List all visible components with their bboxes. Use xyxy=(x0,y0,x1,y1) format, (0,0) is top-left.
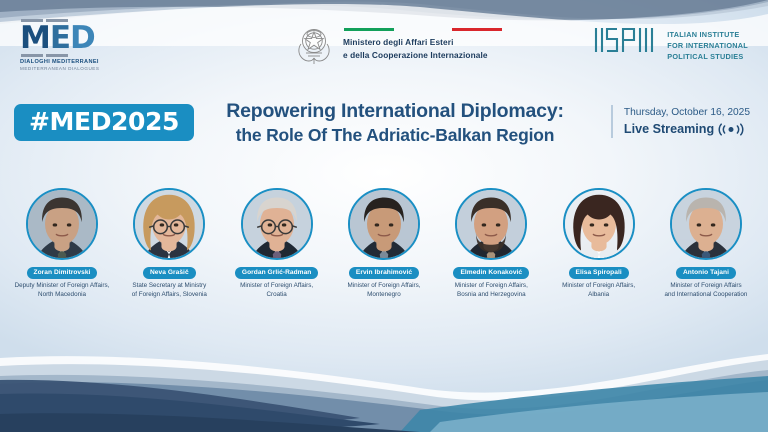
speaker-avatar xyxy=(670,188,742,260)
title-bar: #MED2025 Repowering International Diplom… xyxy=(0,96,768,152)
speaker-role-line2: Bosnia and Herzegovina xyxy=(437,291,545,300)
speaker-role: State Secretary at Ministryof Foreign Af… xyxy=(115,282,223,300)
flag-bar-green xyxy=(344,28,394,31)
ispi-tagline-line1: ITALIAN INSTITUTE xyxy=(667,29,748,40)
banner-header: MED DIALOGHI MEDITERRANEI MEDITERRANEAN … xyxy=(0,22,768,78)
event-date: Thursday, October 16, 2025 xyxy=(624,105,750,121)
live-streaming-label: Live Streaming xyxy=(624,121,714,139)
event-date-streaming: Thursday, October 16, 2025 Live Streamin… xyxy=(611,105,750,138)
ministry-logo: Ministero degli Affari Esteri e della Co… xyxy=(294,22,502,66)
ispi-tagline-line2: FOR INTERNATIONAL xyxy=(667,40,748,51)
speaker-name: Elmedin Konaković xyxy=(453,267,529,279)
speaker-role-line2: Montenegro xyxy=(330,291,438,300)
speaker-name: Elisa Spiropali xyxy=(569,267,629,279)
med-logo-subtitle-en: MEDITERRANEAN DIALOGUES xyxy=(20,66,140,71)
bottom-wave-decoration xyxy=(0,314,768,432)
speaker-list: Zoran DimitrovskiDeputy Minister of Fore… xyxy=(0,188,768,328)
speaker-name: Neva Grašič xyxy=(143,267,196,279)
ministry-name-line2: e della Cooperazione Internazionale xyxy=(343,49,502,61)
speaker-card: Ervin IbrahimovićMinister of Foreign Aff… xyxy=(332,188,436,328)
med-logo: MED DIALOGHI MEDITERRANEI MEDITERRANEAN … xyxy=(20,19,140,71)
speaker-role-line1: Minister of Foreign Affairs, xyxy=(545,282,653,291)
speaker-avatar xyxy=(455,188,527,260)
event-banner: MED DIALOGHI MEDITERRANEI MEDITERRANEAN … xyxy=(0,0,768,432)
event-hashtag-badge: #MED2025 xyxy=(14,104,194,141)
flag-bar-red xyxy=(452,28,502,31)
med-letter-d: D xyxy=(70,20,95,56)
event-title-line1: Repowering International Diplomacy: xyxy=(185,99,605,124)
speaker-card: Neva GrašičState Secretary at Ministryof… xyxy=(117,188,221,328)
ministry-name-line1: Ministero degli Affari Esteri xyxy=(343,36,502,48)
speaker-name: Gordan Grlić-Radman xyxy=(235,267,318,279)
event-title-line2: the Role Of The Adriatic-Balkan Region xyxy=(185,124,605,148)
ispi-wordmark-icon xyxy=(593,26,659,54)
speaker-avatar xyxy=(26,188,98,260)
speaker-role-line1: Minister of Foreign Affairs, xyxy=(437,282,545,291)
speaker-avatar xyxy=(563,188,635,260)
ispi-tagline-line3: POLITICAL STUDIES xyxy=(667,51,748,62)
speaker-avatar xyxy=(348,188,420,260)
speaker-role: Minister of Foreign Affairsand Internati… xyxy=(652,282,760,300)
speaker-card: Antonio TajaniMinister of Foreign Affair… xyxy=(654,188,758,328)
speaker-role-line2: Albania xyxy=(545,291,653,300)
speaker-role: Minister of Foreign Affairs,Croatia xyxy=(223,282,331,300)
speaker-name: Zoran Dimitrovski xyxy=(27,267,98,279)
italian-flag-bars xyxy=(343,28,502,31)
speaker-role-line1: Minister of Foreign Affairs, xyxy=(223,282,331,291)
live-streaming-label-row: Live Streaming xyxy=(624,121,750,139)
speaker-avatar xyxy=(241,188,313,260)
speaker-role-line1: Minister of Foreign Affairs, xyxy=(330,282,438,291)
med-logo-wordmark: MED xyxy=(20,24,140,53)
speaker-role-line2: and International Cooperation xyxy=(652,291,760,300)
speaker-name: Antonio Tajani xyxy=(676,267,736,279)
speaker-role: Deputy Minister of Foreign Affairs,North… xyxy=(8,282,116,300)
med-letter-e: E xyxy=(50,20,70,56)
med-letter-m: M xyxy=(20,20,50,56)
med-logo-subtitle-it: DIALOGHI MEDITERRANEI xyxy=(20,59,140,65)
speaker-name: Ervin Ibrahimović xyxy=(349,267,419,279)
speaker-card: Gordan Grlić-RadmanMinister of Foreign A… xyxy=(225,188,329,328)
event-title: Repowering International Diplomacy: the … xyxy=(185,99,605,148)
speaker-role-line1: State Secretary at Ministry xyxy=(115,282,223,291)
speaker-avatar xyxy=(133,188,205,260)
speaker-card: Zoran DimitrovskiDeputy Minister of Fore… xyxy=(10,188,114,328)
ispi-logo: ITALIAN INSTITUTE FOR INTERNATIONAL POLI… xyxy=(593,26,748,62)
speaker-role-line2: Croatia xyxy=(223,291,331,300)
speaker-role: Minister of Foreign Affairs,Bosnia and H… xyxy=(437,282,545,300)
speaker-role-line1: Deputy Minister of Foreign Affairs, xyxy=(8,282,116,291)
italian-republic-emblem-icon xyxy=(294,22,334,66)
speaker-role-line2: of Foreign Affairs, Slovenia xyxy=(115,291,223,300)
speaker-role-line2: North Macedonia xyxy=(8,291,116,300)
speaker-card: Elmedin KonakovićMinister of Foreign Aff… xyxy=(439,188,543,328)
speaker-card: Elisa SpiropaliMinister of Foreign Affai… xyxy=(547,188,651,328)
broadcast-icon xyxy=(718,123,744,136)
speaker-role: Minister of Foreign Affairs,Montenegro xyxy=(330,282,438,300)
speaker-role-line1: Minister of Foreign Affairs xyxy=(652,282,760,291)
speaker-role: Minister of Foreign Affairs,Albania xyxy=(545,282,653,300)
